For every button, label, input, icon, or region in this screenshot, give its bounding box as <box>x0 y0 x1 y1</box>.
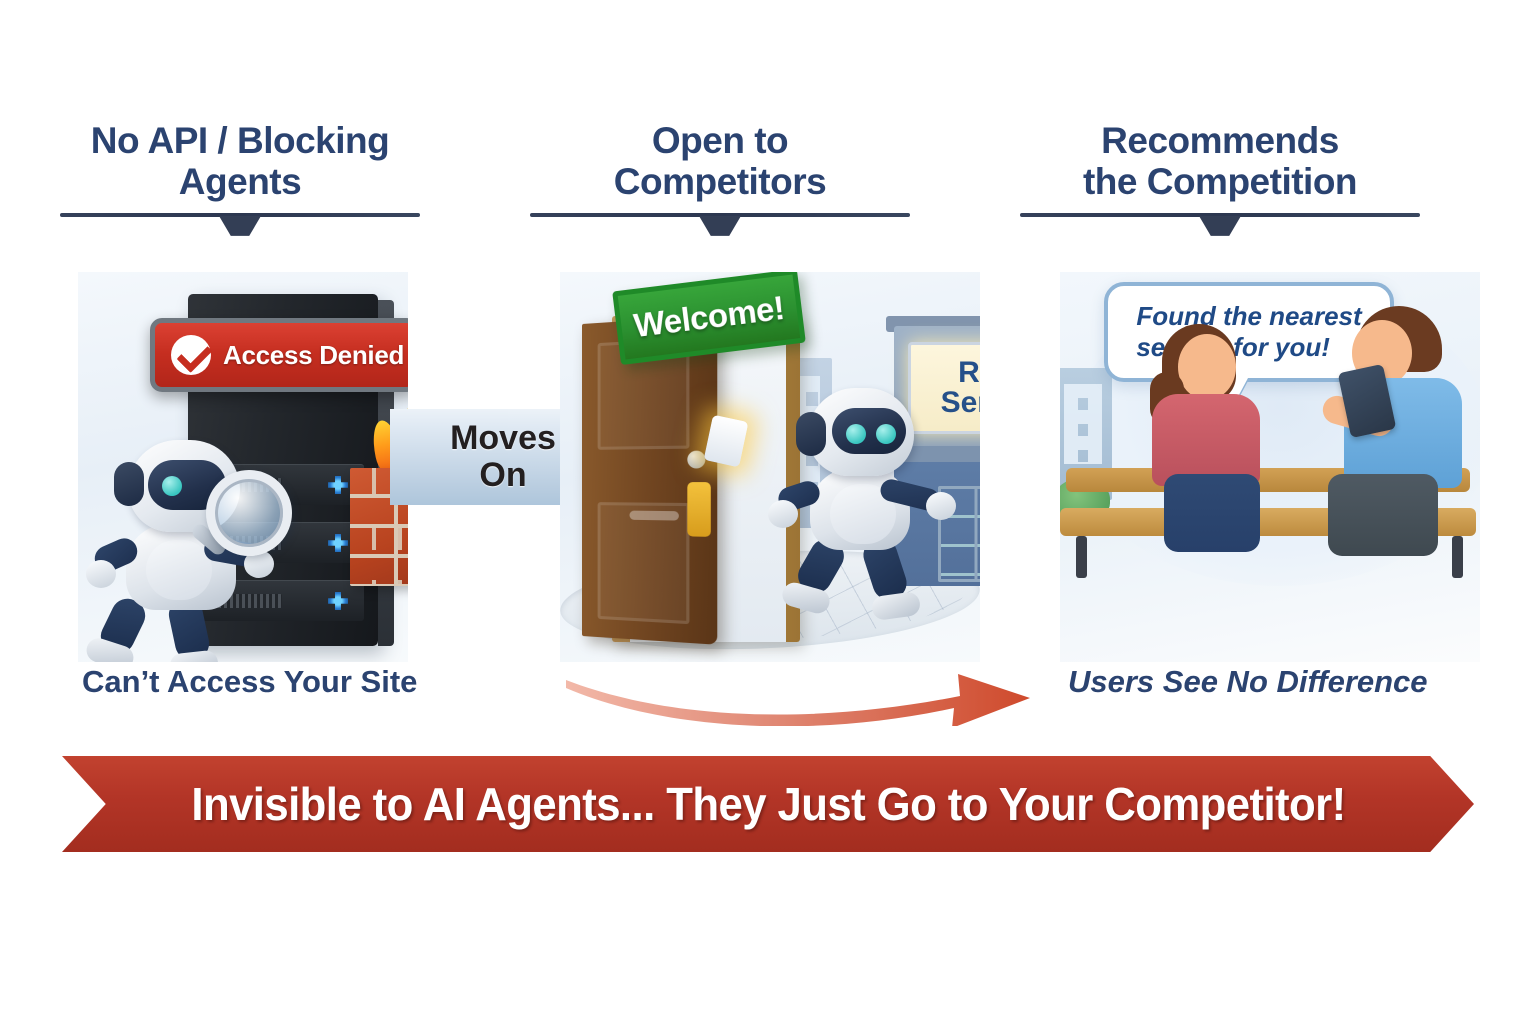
bottom-ribbon: Invisible to AI Agents... They Just Go t… <box>62 756 1474 852</box>
infographic-canvas: No API / Blocking Agents Access Denied <box>0 0 1536 1024</box>
door-push-bar <box>629 511 678 521</box>
illustration-panel-1: Access Denied <box>78 272 408 662</box>
robot-ear <box>796 412 826 456</box>
header-pointer-tab-1 <box>219 216 261 236</box>
welcome-label: Welcome! <box>632 289 787 345</box>
flow-arrow-to-users <box>560 636 1060 726</box>
robot-hand <box>86 560 116 588</box>
column-title-3: Recommends the Competition <box>1020 120 1420 203</box>
man-figure <box>1298 306 1466 556</box>
column-caption-1: Can’t Access Your Site <box>82 664 417 700</box>
robot-hand <box>768 500 798 528</box>
denied-check-icon <box>171 335 211 375</box>
door-lock-icon <box>687 482 710 537</box>
access-denied-label: Access Denied <box>223 340 404 371</box>
header-divider-3 <box>1020 213 1420 217</box>
torso <box>1152 394 1260 486</box>
illustration-panel-3: Found the nearest service for you! <box>1060 272 1480 662</box>
moves-on-label: Moves On <box>428 420 578 495</box>
robot-visor <box>832 408 906 454</box>
robot-with-magnifier <box>86 440 306 662</box>
header-divider-2 <box>530 213 910 217</box>
running-robot <box>776 388 966 638</box>
bench-leg <box>1076 536 1087 578</box>
woman-figure <box>1140 324 1276 552</box>
header-pointer-tab-3 <box>1199 216 1241 236</box>
legs <box>1164 474 1260 552</box>
legs <box>1328 474 1438 556</box>
robot-eye <box>846 424 866 444</box>
robot-head <box>808 388 914 476</box>
column-header-2: Open to Competitors <box>530 120 910 217</box>
ribbon-label: Invisible to AI Agents... They Just Go t… <box>191 777 1345 831</box>
access-denied-banner: Access Denied <box>150 318 408 392</box>
column-title-2: Open to Competitors <box>530 120 910 203</box>
magnifier-lens <box>206 470 292 556</box>
column-header-3: Recommends the Competition <box>1020 120 1420 217</box>
door-knob-icon <box>687 451 705 469</box>
door-panel <box>598 502 690 624</box>
header-pointer-tab-2 <box>699 216 741 236</box>
robot-chest-plate <box>146 540 212 600</box>
server-led-icon <box>328 592 348 610</box>
server-led-icon <box>328 534 348 552</box>
column-caption-3: Users See No Difference <box>1068 664 1428 700</box>
column-header-1: No API / Blocking Agents <box>60 120 420 217</box>
header-divider-1 <box>60 213 420 217</box>
illustration-panel-2: Rival Service Welcome! <box>560 272 980 662</box>
robot-eye <box>876 424 896 444</box>
magnifier-icon <box>206 470 292 556</box>
robot-eye <box>162 476 182 496</box>
door-leaf <box>582 315 717 645</box>
head <box>1178 334 1236 400</box>
robot-hand <box>926 492 956 520</box>
server-led-icon <box>328 476 348 494</box>
column-title-1: No API / Blocking Agents <box>60 120 420 203</box>
robot-ear <box>114 462 144 506</box>
